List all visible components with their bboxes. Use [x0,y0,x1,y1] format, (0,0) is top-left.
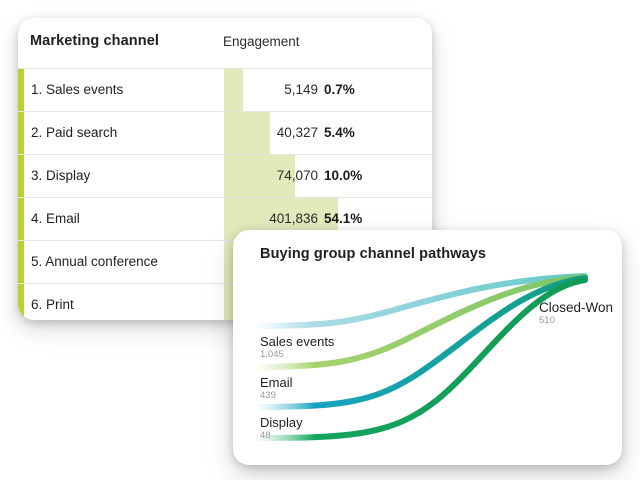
label-display-name: Display [260,415,303,430]
label-sales-events-value: 1,045 [260,349,334,361]
label-closed-won: Closed-Won 510 [539,300,613,327]
row-engagement-percent: 10.0% [324,168,362,183]
row-engagement-value: 74,070 [254,168,318,183]
label-display-value: 48 [260,430,303,442]
row-channel-name: 6. Print [31,297,74,312]
label-email-value: 439 [260,390,293,402]
row-engagement-percent: 54.1% [324,211,362,226]
table-row[interactable]: 2. Paid search 40,327 5.4% [18,111,432,154]
row-channel-name: 1. Sales events [31,82,123,97]
screenshot-stage: Marketing channel Engagement 1. Sales ev… [0,0,640,480]
row-channel-name: 5. Annual conference [31,254,158,269]
label-sales-events-name: Sales events [260,334,334,349]
row-engagement-percent: 5.4% [324,125,355,140]
column-header-engagement: Engagement [223,34,300,49]
engagement-bar [224,69,243,111]
label-sales-events: Sales events 1,045 [260,334,334,361]
buying-group-pathways-card: Buying group channel pathways [233,230,622,465]
label-display: Display 48 [260,415,303,442]
table-row[interactable]: 3. Display 74,070 10.0% [18,154,432,197]
label-closed-won-name: Closed-Won [539,300,613,315]
table-header: Marketing channel Engagement [18,18,432,68]
row-channel-name: 3. Display [31,168,90,183]
row-engagement-percent: 0.7% [324,82,355,97]
row-engagement-value: 40,327 [254,125,318,140]
label-closed-won-value: 510 [539,315,613,327]
row-channel-name: 4. Email [31,211,80,226]
table-row[interactable]: 1. Sales events 5,149 0.7% [18,68,432,111]
column-header-marketing-channel: Marketing channel [30,33,159,49]
row-engagement-value: 401,836 [254,211,318,226]
row-engagement-value: 5,149 [254,82,318,97]
label-email-name: Email [260,375,293,390]
label-email: Email 439 [260,375,293,402]
row-channel-name: 2. Paid search [31,125,117,140]
